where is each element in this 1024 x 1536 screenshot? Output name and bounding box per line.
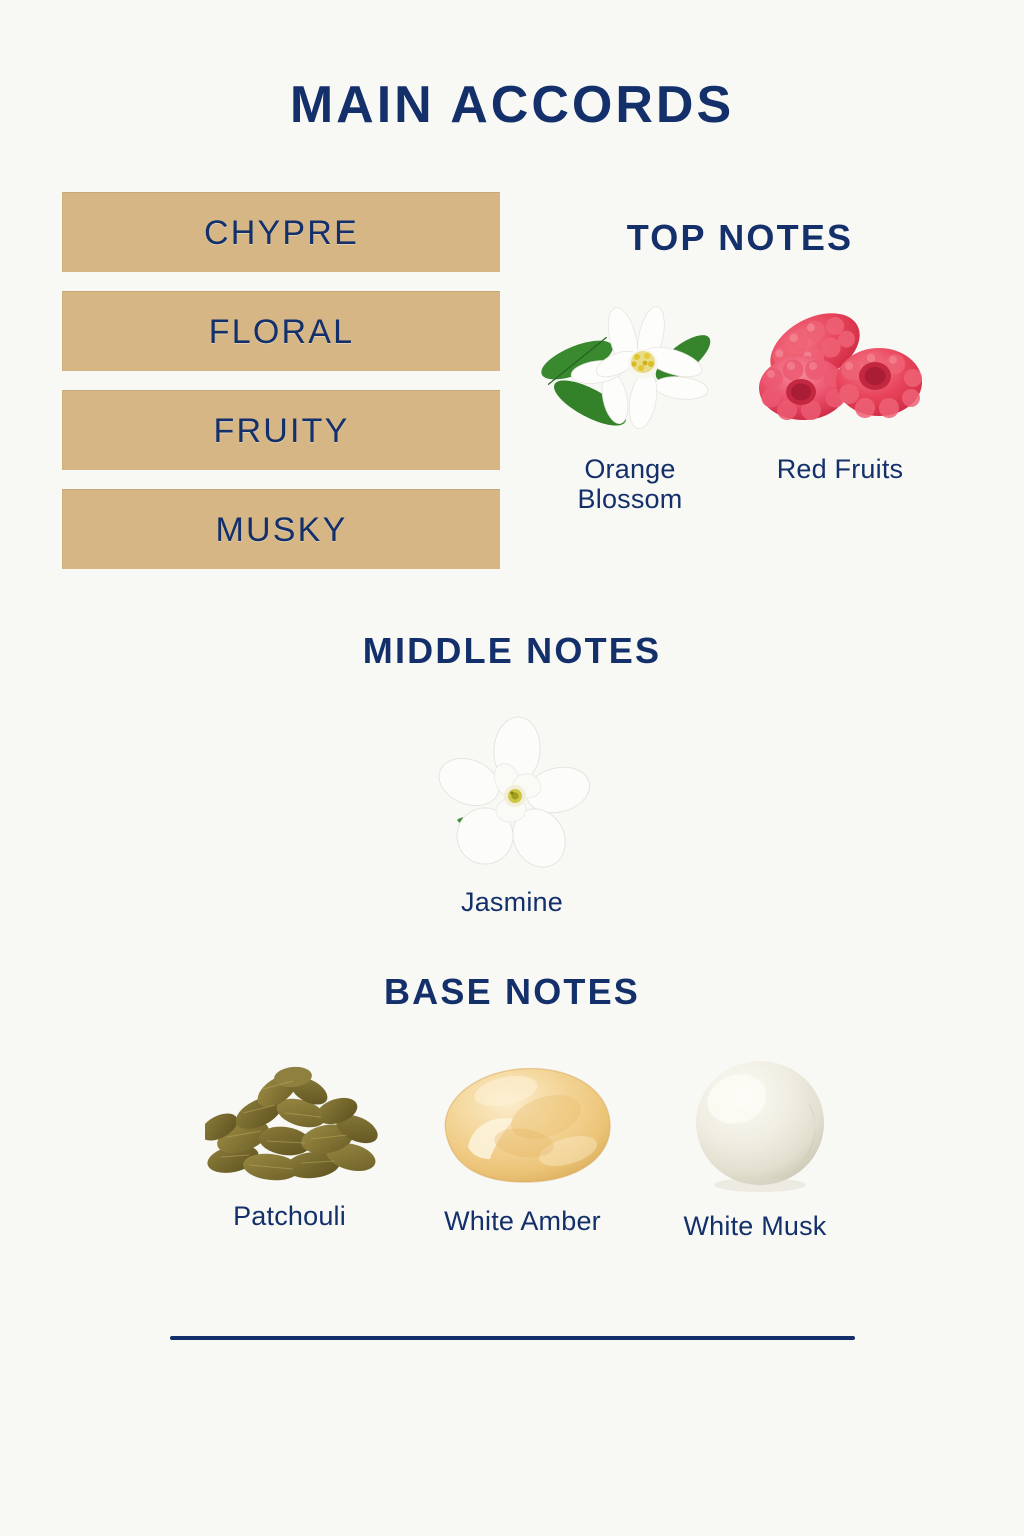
- accord-label: CHYPRE: [204, 216, 359, 250]
- accord-bar-chypre: CHYPRE: [62, 192, 500, 272]
- accord-label: MUSKY: [216, 513, 348, 547]
- section-title-base-notes: BASE NOTES: [212, 974, 812, 1010]
- footer-divider: [170, 1336, 855, 1340]
- orange-blossom-icon: [535, 300, 725, 440]
- musk-sphere-icon: [675, 1055, 835, 1195]
- accord-bar-fruity: FRUITY: [62, 390, 500, 470]
- note-label: White Musk: [670, 1211, 840, 1241]
- jasmine-flower-icon: [427, 712, 597, 877]
- main-accords-list: CHYPRE FLORAL FRUITY MUSKY: [62, 192, 500, 569]
- section-title-top-notes: TOP NOTES: [530, 220, 950, 256]
- note-item-white-musk: White Musk: [670, 1055, 840, 1241]
- patchouli-leaves-icon: [205, 1055, 375, 1185]
- page-title: MAIN ACCORDS: [0, 79, 1024, 131]
- accord-bar-floral: FLORAL: [62, 291, 500, 371]
- note-label: Jasmine: [427, 887, 597, 917]
- fragrance-notes-infographic: MAIN ACCORDS CHYPRE FLORAL FRUITY MUSKY …: [0, 0, 1024, 1536]
- section-title-middle-notes: MIDDLE NOTES: [212, 633, 812, 669]
- amber-stone-icon: [428, 1055, 618, 1190]
- accord-label: FLORAL: [209, 315, 354, 349]
- note-item-jasmine: Jasmine: [427, 712, 597, 917]
- note-label: Orange Blossom: [535, 454, 725, 514]
- note-label: Patchouli: [202, 1201, 377, 1231]
- accord-bar-musky: MUSKY: [62, 489, 500, 569]
- note-item-orange-blossom: Orange Blossom: [535, 300, 725, 514]
- note-label: White Amber: [425, 1206, 620, 1236]
- raspberries-icon: [745, 300, 935, 440]
- note-item-white-amber: White Amber: [425, 1055, 620, 1236]
- note-label: Red Fruits: [745, 454, 935, 484]
- note-item-patchouli: Patchouli: [202, 1055, 377, 1231]
- note-item-red-fruits: Red Fruits: [745, 300, 935, 484]
- accord-label: FRUITY: [214, 414, 350, 448]
